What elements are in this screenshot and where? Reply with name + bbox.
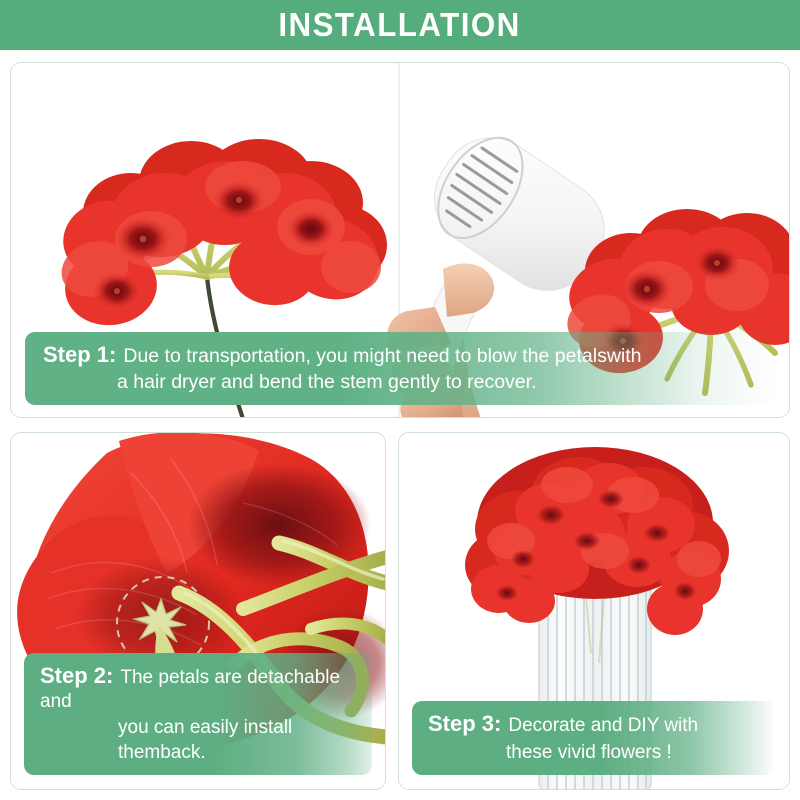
step-3-line-1: Decorate and DIY with <box>508 715 698 736</box>
poppy-cluster-left <box>54 139 387 331</box>
step-2-line-2: you can easily install themback. <box>40 716 358 765</box>
step-1-line-1: Due to transportation, you might need to… <box>123 345 641 367</box>
caption-step-1: Step 1:Due to transportation, you might … <box>25 332 777 405</box>
step-1-label: Step 1: <box>43 342 116 367</box>
installation-infographic: INSTALLATION <box>0 0 800 800</box>
caption-step-2: Step 2:The petals are detachable and you… <box>24 653 372 775</box>
step-1-line-2: a hair dryer and bend the stem gently to… <box>43 370 763 395</box>
panel-step-1: Step 1:Due to transportation, you might … <box>10 62 790 418</box>
step-3-line-2: these vivid flowers ! <box>428 741 762 765</box>
step-2-label: Step 2: <box>40 663 113 688</box>
header-banner: INSTALLATION <box>0 0 800 50</box>
page-title: INSTALLATION <box>279 6 521 44</box>
step-3-label: Step 3: <box>428 711 501 736</box>
panel-step-3: Step 3:Decorate and DIY with these vivid… <box>398 432 790 790</box>
caption-step-3: Step 3:Decorate and DIY with these vivid… <box>412 701 776 775</box>
panel-step-2: Step 2:The petals are detachable and you… <box>10 432 386 790</box>
